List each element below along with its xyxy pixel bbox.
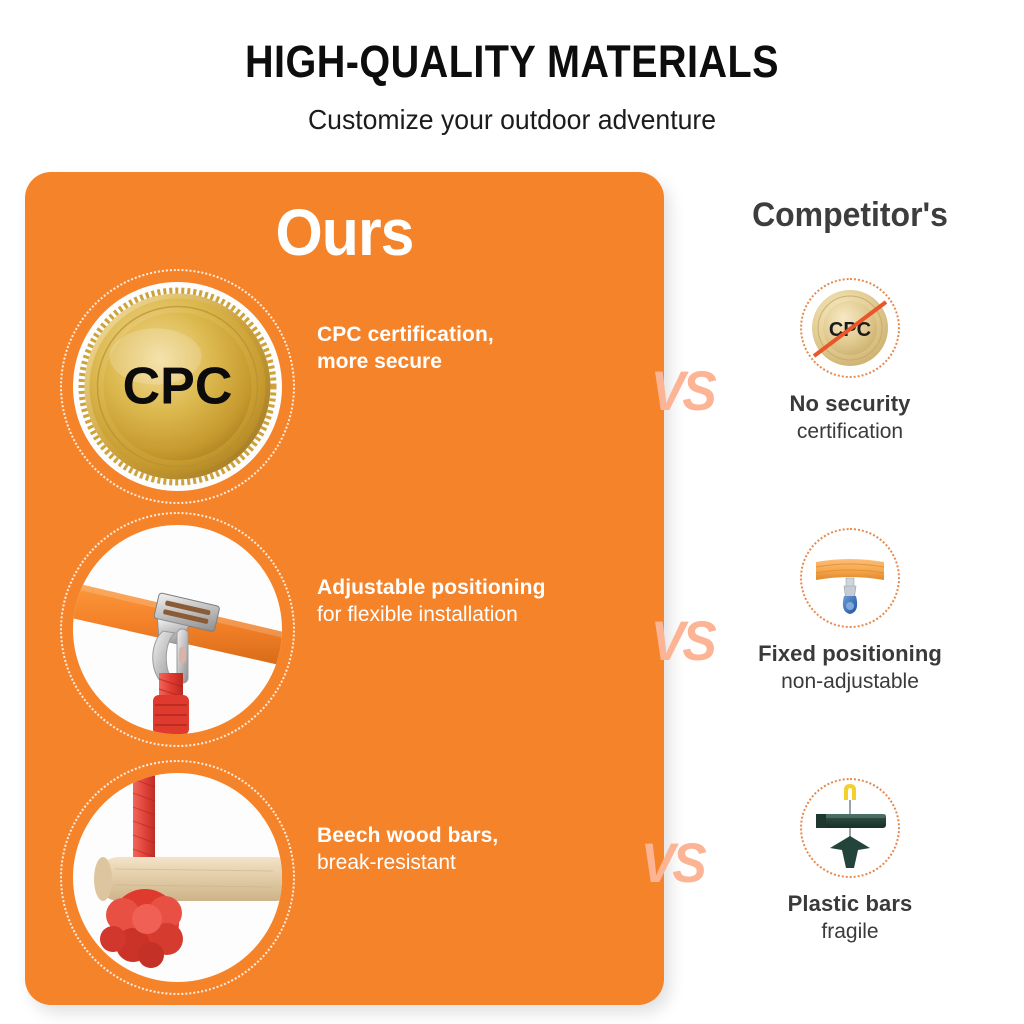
- infographic-root: HIGH-QUALITY MATERIALS Customize your ou…: [0, 0, 1024, 1024]
- competitor-item-security: CPC No security certification: [700, 278, 1000, 445]
- cpc-badge-text: CPC: [123, 358, 233, 416]
- competitor-icon-wrap: [800, 778, 900, 878]
- competitor-line2: fragile: [700, 918, 1000, 945]
- feature-line1: Adjustable positioning: [317, 574, 647, 601]
- cpc-medallion-icon: CPC: [73, 282, 282, 491]
- photo-circle: CPC: [73, 282, 282, 491]
- strap-carabiner-icon: [73, 525, 282, 734]
- ours-feature-text: Adjustable positioning for flexible inst…: [317, 574, 647, 628]
- ours-heading: Ours: [51, 194, 639, 270]
- ours-panel: Ours: [25, 172, 664, 1005]
- competitor-icon-wrap: [800, 528, 900, 628]
- ours-feature-row-adjustable: Adjustable positioning for flexible inst…: [25, 512, 664, 752]
- competitor-line2: non-adjustable: [700, 668, 1000, 695]
- competitor-line1: No security: [700, 390, 1000, 418]
- photo-circle: [73, 773, 282, 982]
- feature-line2: break-resistant: [317, 849, 647, 876]
- ours-photo-wood: [60, 760, 295, 995]
- competitor-heading: Competitor's: [700, 196, 1001, 235]
- feature-line1: CPC certification,: [317, 321, 647, 348]
- photo-circle: [73, 525, 282, 734]
- page-title: HIGH-QUALITY MATERIALS: [61, 36, 962, 88]
- dotted-ring-decoration: [800, 528, 900, 628]
- ours-feature-row-cpc: CPC CPC certification, more secure: [25, 269, 664, 509]
- competitor-item-fixed: Fixed positioning non-adjustable: [700, 528, 1000, 695]
- beech-wood-bar-icon: [73, 773, 282, 982]
- dotted-ring-decoration: [800, 778, 900, 878]
- feature-line1: Beech wood bars,: [317, 822, 647, 849]
- vs-badge-3: VS: [641, 830, 704, 895]
- page-subtitle: Customize your outdoor adventure: [26, 104, 999, 136]
- ours-photo-strap: [60, 512, 295, 747]
- feature-line2: more secure: [317, 348, 647, 375]
- ours-feature-text: Beech wood bars, break-resistant: [317, 822, 647, 876]
- ours-feature-text: CPC certification, more secure: [317, 321, 647, 375]
- dotted-ring-decoration: [800, 278, 900, 378]
- feature-line2: for flexible installation: [317, 601, 647, 628]
- ours-feature-row-wood: Beech wood bars, break-resistant: [25, 760, 664, 1000]
- competitor-item-plastic: Plastic bars fragile: [700, 778, 1000, 945]
- rope-knot: [100, 889, 183, 968]
- competitor-line1: Fixed positioning: [700, 640, 1000, 668]
- ours-photo-cpc: CPC: [60, 269, 295, 504]
- competitor-line2: certification: [700, 418, 1000, 445]
- competitor-icon-wrap: CPC: [800, 278, 900, 378]
- competitor-line1: Plastic bars: [700, 890, 1000, 918]
